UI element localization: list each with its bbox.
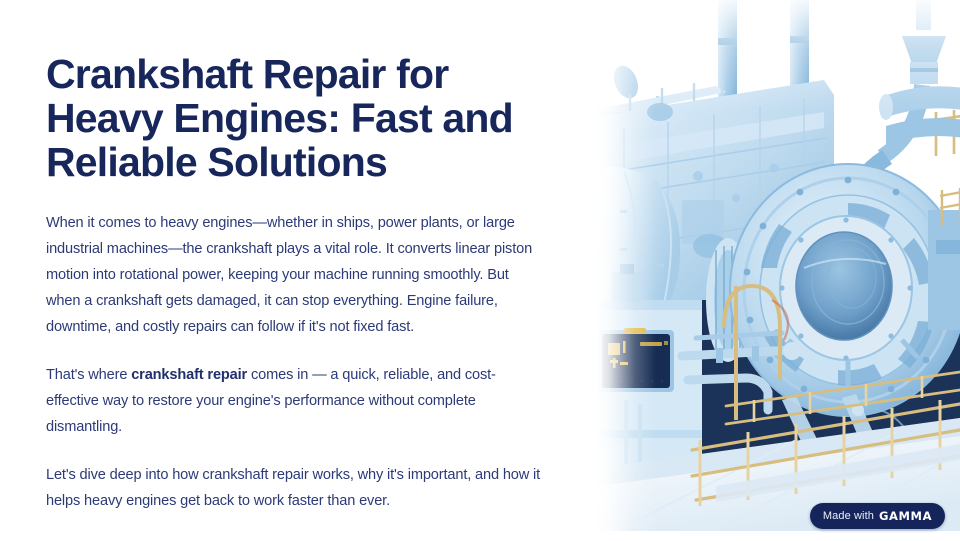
body-copy: When it comes to heavy engines—whether i… bbox=[46, 210, 544, 514]
paragraph-1: When it comes to heavy engines—whether i… bbox=[46, 210, 544, 340]
slide-canvas: Crankshaft Repair for Heavy Engines: Fas… bbox=[0, 0, 960, 541]
page-title: Crankshaft Repair for Heavy Engines: Fas… bbox=[46, 52, 546, 184]
emphasis-text: crankshaft repair bbox=[131, 367, 247, 383]
industrial-engine-photo bbox=[596, 0, 960, 531]
paragraph-2: That's where crankshaft repair comes in … bbox=[46, 362, 544, 440]
engine-illustration bbox=[596, 0, 960, 531]
text-column: Crankshaft Repair for Heavy Engines: Fas… bbox=[46, 52, 546, 514]
paragraph-3: Let's dive deep into how crankshaft repa… bbox=[46, 462, 544, 514]
gamma-wordmark: GAMMA bbox=[879, 509, 932, 523]
made-with-gamma-badge[interactable]: Made with GAMMA bbox=[810, 503, 945, 529]
made-with-label: Made with bbox=[823, 510, 874, 522]
